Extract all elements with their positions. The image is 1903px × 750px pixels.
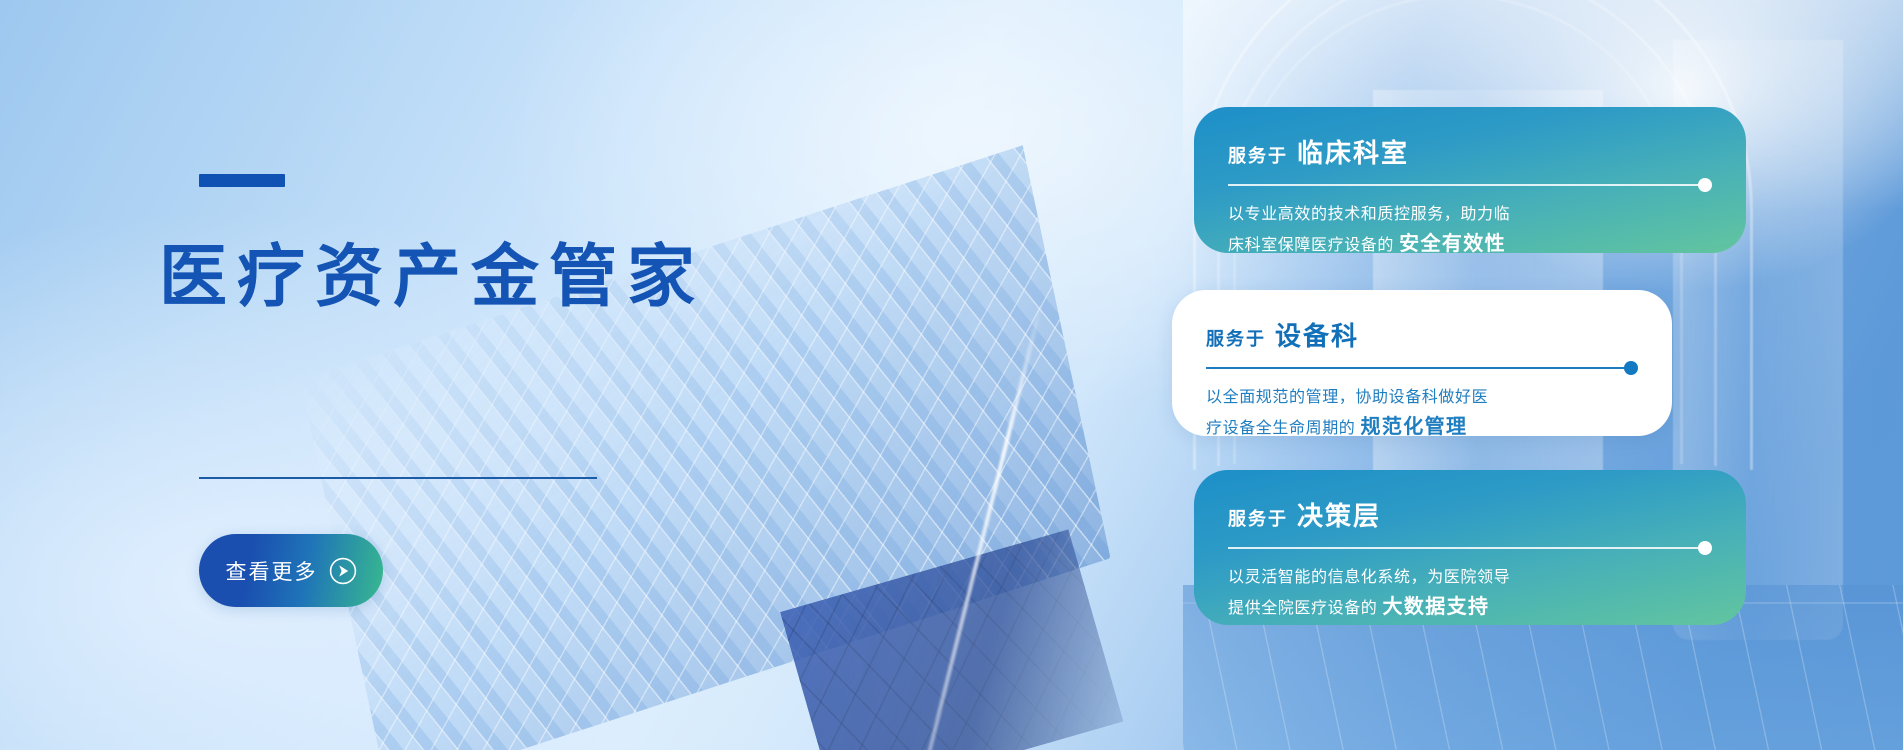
hero-banner: 医疗资产金管家 查看更多 服务于 临床科室 以专业高效的技术和质控服务，助力临: [0, 0, 1903, 750]
card-heading: 服务于 临床科室: [1228, 133, 1712, 170]
card-line-2-highlight: 规范化管理: [1360, 416, 1467, 436]
card-description: 以专业高效的技术和质控服务，助力临 床科室保障医疗设备的 安全有效性: [1228, 202, 1712, 253]
card-rule: [1206, 360, 1638, 376]
card-rule: [1228, 177, 1712, 193]
card-department: 决策层: [1297, 496, 1381, 533]
card-line-1: 以灵活智能的信息化系统，为医院领导: [1228, 569, 1510, 586]
card-line-2-plain: 提供全院医疗设备的: [1228, 600, 1377, 617]
card-rule-dot: [1698, 178, 1712, 192]
card-prefix: 服务于: [1206, 325, 1266, 351]
card-rule-dot: [1624, 361, 1638, 375]
service-card-equipment-dept[interactable]: 服务于 设备科 以全面规范的管理，协助设备科做好医 疗设备全生命周期的 规范化管…: [1172, 290, 1672, 436]
card-rule-line: [1228, 547, 1702, 549]
card-rule: [1228, 540, 1712, 556]
card-department: 临床科室: [1297, 133, 1409, 170]
card-line-1: 以全面规范的管理，协助设备科做好医: [1206, 389, 1488, 406]
card-line-2-highlight: 大数据支持: [1382, 596, 1489, 618]
card-line-2-plain: 床科室保障医疗设备的: [1228, 237, 1394, 253]
card-rule-line: [1206, 367, 1628, 369]
card-rule-line: [1228, 184, 1702, 186]
card-line-1: 以专业高效的技术和质控服务，助力临: [1228, 206, 1510, 223]
service-card-decision-makers[interactable]: 服务于 决策层 以灵活智能的信息化系统，为医院领导 提供全院医疗设备的 大数据支…: [1194, 470, 1746, 625]
service-card-clinical[interactable]: 服务于 临床科室 以专业高效的技术和质控服务，助力临 床科室保障医疗设备的 安全…: [1194, 107, 1746, 253]
card-rule-dot: [1698, 541, 1712, 555]
card-description: 以灵活智能的信息化系统，为医院领导 提供全院医疗设备的 大数据支持: [1228, 565, 1712, 623]
card-department: 设备科: [1275, 316, 1359, 353]
card-heading: 服务于 决策层: [1228, 496, 1712, 533]
card-line-2-plain: 疗设备全生命周期的: [1206, 420, 1355, 436]
service-cards: 服务于 临床科室 以专业高效的技术和质控服务，助力临 床科室保障医疗设备的 安全…: [0, 0, 1903, 750]
card-line-2-highlight: 安全有效性: [1399, 233, 1506, 253]
card-prefix: 服务于: [1228, 505, 1288, 531]
card-prefix: 服务于: [1228, 142, 1288, 168]
card-heading: 服务于 设备科: [1206, 316, 1638, 353]
card-description: 以全面规范的管理，协助设备科做好医 疗设备全生命周期的 规范化管理: [1206, 385, 1638, 436]
